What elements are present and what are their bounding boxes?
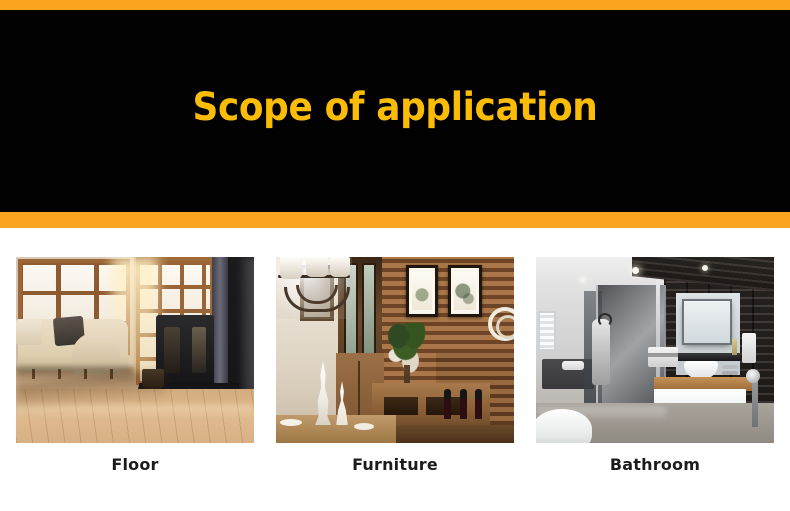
gallery-label-furniture: Furniture xyxy=(276,455,514,474)
furniture-image[interactable] xyxy=(276,257,514,443)
gallery-card-bathroom[interactable]: Bathroom xyxy=(536,257,774,487)
furniture-lamp-shade-3 xyxy=(330,257,350,277)
furniture-wine-bottle-1 xyxy=(444,389,451,419)
bathroom-image[interactable] xyxy=(536,257,774,443)
furniture-cabinet-glass-right xyxy=(362,263,376,359)
bathroom-folded-towels xyxy=(648,347,678,367)
gallery-label-bathroom: Bathroom xyxy=(536,455,774,474)
header-banner: Scope of application xyxy=(0,0,790,228)
bathroom-hanging-towel xyxy=(742,333,756,363)
furniture-framed-art-left-inner xyxy=(412,272,432,310)
bathroom-robe-hook xyxy=(598,313,612,327)
furniture-wall-ring-inner xyxy=(496,315,514,339)
furniture-plate-left xyxy=(280,419,302,426)
furniture-wine-bottle-3 xyxy=(475,389,482,419)
bathroom-bathrobe xyxy=(592,319,610,385)
bathroom-ceiling-spotlight-2 xyxy=(580,277,586,283)
bathroom-shower-head xyxy=(746,369,760,383)
furniture-floor xyxy=(396,425,514,443)
furniture-framed-art-right-inner xyxy=(454,272,476,310)
gallery-card-furniture[interactable]: Furniture xyxy=(276,257,514,487)
bathroom-faucet-upper xyxy=(722,365,738,369)
header-banner-inner: Scope of application xyxy=(0,10,790,212)
bathroom-shelf xyxy=(676,353,740,361)
gallery-card-floor[interactable]: Floor xyxy=(16,257,254,487)
bathroom-mirror xyxy=(684,301,730,343)
furniture-sideboard-shelf-left xyxy=(384,397,418,415)
furniture-lamp-shade-2 xyxy=(306,257,328,277)
bathroom-ceiling-spotlight-3 xyxy=(702,265,708,271)
furniture-wine-bottle-2 xyxy=(460,389,467,419)
furniture-lamp-shade-1 xyxy=(280,257,302,279)
bathroom-shower-column xyxy=(752,377,758,427)
floor-fireplace-glass-right xyxy=(192,327,206,373)
bathroom-ceiling-spotlight-1 xyxy=(632,267,639,274)
application-gallery: Floor xyxy=(16,257,774,487)
furniture-sideboard-shelf-right xyxy=(426,397,460,415)
bathroom-soap-bottle xyxy=(732,339,737,355)
page-title: Scope of application xyxy=(32,10,759,212)
bathroom-bed-pillow xyxy=(562,361,584,370)
bathroom-towel-rail xyxy=(648,353,678,357)
floor-image[interactable] xyxy=(16,257,254,443)
furniture-plate-right xyxy=(354,423,374,430)
bathroom-faucet-lower xyxy=(722,371,738,375)
floor-cushion-light xyxy=(16,319,42,345)
gallery-label-floor: Floor xyxy=(16,455,254,474)
bathroom-bedroom-window xyxy=(538,311,556,351)
floor-fireplace-glass-left xyxy=(164,327,180,373)
